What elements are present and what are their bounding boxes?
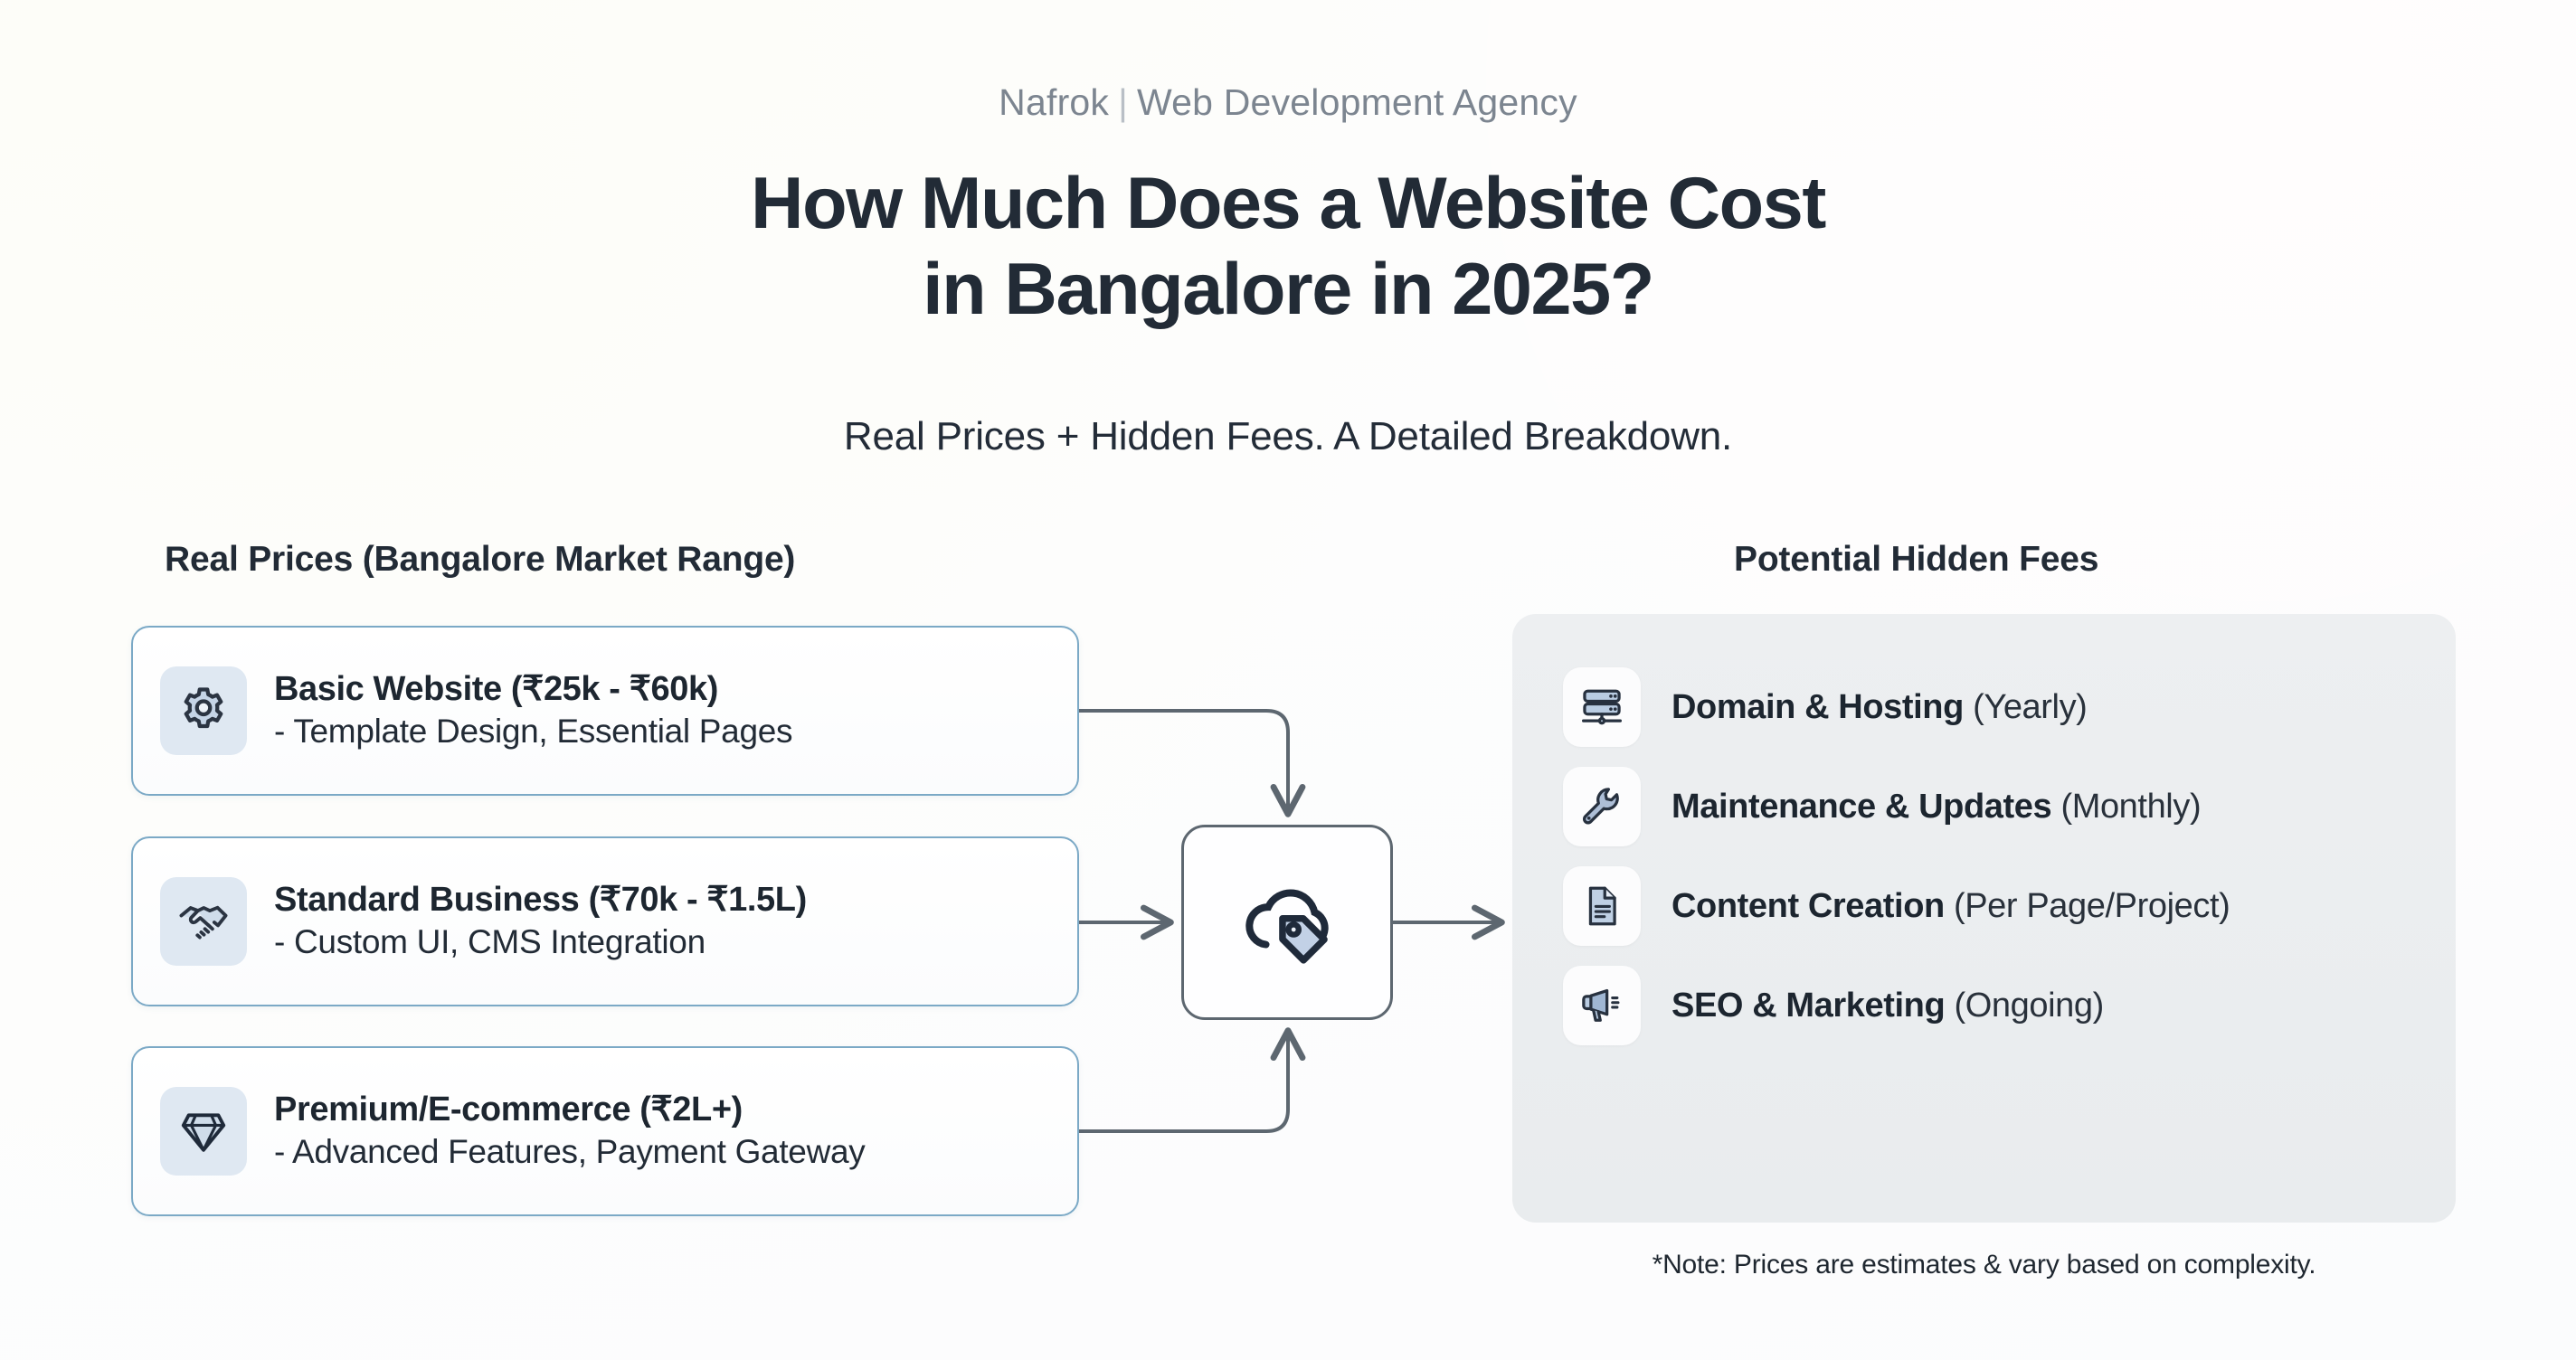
price-card-detail: - Template Design, Essential Pages xyxy=(274,714,792,750)
connector-card3-to-hub xyxy=(1079,1031,1288,1131)
hidden-fees-panel: Domain & Hosting (Yearly) Maintenance & … xyxy=(1512,614,2456,1223)
fee-frequency: (Per Page/Project) xyxy=(1954,887,2230,925)
fee-name: Domain & Hosting xyxy=(1672,688,1964,726)
price-card-premium-text: Premium/E-commerce (₹2L+) - Advanced Fea… xyxy=(274,1092,865,1170)
page-title-line-1: How Much Does a Website Cost xyxy=(0,161,2576,247)
price-card-basic[interactable]: Basic Website (₹25k - ₹60k) - Template D… xyxy=(131,626,1079,796)
brand-name: Nafrok xyxy=(999,81,1109,123)
handshake-icon xyxy=(160,877,247,966)
brand-line: Nafrok|Web Development Agency xyxy=(0,81,2576,124)
fee-name: Content Creation xyxy=(1672,887,1945,925)
fee-row-seo-marketing[interactable]: SEO & Marketing (Ongoing) xyxy=(1512,956,2456,1055)
price-card-detail: - Custom UI, CMS Integration xyxy=(274,925,807,960)
fee-label: Maintenance & Updates (Monthly) xyxy=(1672,788,2201,826)
wrench-icon xyxy=(1563,767,1641,846)
fee-name: Maintenance & Updates xyxy=(1672,788,2051,826)
fee-label: Domain & Hosting (Yearly) xyxy=(1672,688,2087,727)
fee-row-domain-hosting[interactable]: Domain & Hosting (Yearly) xyxy=(1512,657,2456,757)
prices-note: *Note: Prices are estimates & vary based… xyxy=(1512,1250,2456,1280)
page-title-line-2: in Bangalore in 2025? xyxy=(0,247,2576,333)
hub-node[interactable] xyxy=(1181,825,1393,1020)
gear-icon xyxy=(160,666,247,755)
connector-card1-to-hub xyxy=(1079,711,1288,814)
diamond-icon xyxy=(160,1087,247,1176)
brand-tagline: Web Development Agency xyxy=(1137,81,1577,123)
price-card-title: Standard Business (₹70k - ₹1.5L) xyxy=(274,883,807,919)
fee-frequency: (Yearly) xyxy=(1973,688,2087,726)
server-icon xyxy=(1563,667,1641,747)
price-card-basic-text: Basic Website (₹25k - ₹60k) - Template D… xyxy=(274,672,792,750)
fee-label: Content Creation (Per Page/Project) xyxy=(1672,887,2230,926)
price-card-title: Premium/E-commerce (₹2L+) xyxy=(274,1092,865,1129)
page-subtitle: Real Prices + Hidden Fees. A Detailed Br… xyxy=(0,414,2576,459)
price-card-premium[interactable]: Premium/E-commerce (₹2L+) - Advanced Fea… xyxy=(131,1046,1079,1216)
left-column-heading: Real Prices (Bangalore Market Range) xyxy=(165,540,795,580)
infographic-canvas: Nafrok|Web Development Agency How Much D… xyxy=(0,0,2576,1360)
megaphone-icon xyxy=(1563,966,1641,1045)
fee-label: SEO & Marketing (Ongoing) xyxy=(1672,987,2104,1025)
price-card-detail: - Advanced Features, Payment Gateway xyxy=(274,1135,865,1170)
cloud-price-tag-icon xyxy=(1229,864,1345,980)
fee-row-content-creation[interactable]: Content Creation (Per Page/Project) xyxy=(1512,856,2456,956)
price-card-title: Basic Website (₹25k - ₹60k) xyxy=(274,672,792,708)
document-icon xyxy=(1563,866,1641,946)
price-card-standard-text: Standard Business (₹70k - ₹1.5L) - Custo… xyxy=(274,883,807,960)
brand-separator: | xyxy=(1109,81,1137,123)
price-card-standard[interactable]: Standard Business (₹70k - ₹1.5L) - Custo… xyxy=(131,836,1079,1006)
fee-frequency: (Monthly) xyxy=(2060,788,2201,826)
right-column-heading: Potential Hidden Fees xyxy=(1734,540,2098,580)
page-title: How Much Does a Website Cost in Bangalor… xyxy=(0,161,2576,333)
fee-frequency: (Ongoing) xyxy=(1954,987,2103,1025)
fee-name: SEO & Marketing xyxy=(1672,987,1945,1025)
fee-row-maintenance-updates[interactable]: Maintenance & Updates (Monthly) xyxy=(1512,757,2456,856)
